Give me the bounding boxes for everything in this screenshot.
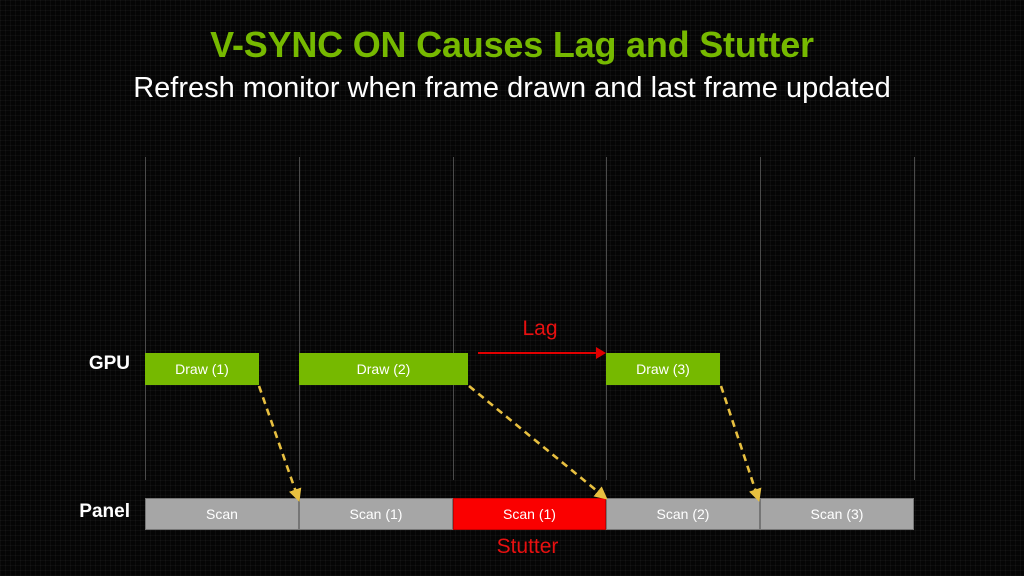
panel-bar-scan-0: Scan: [145, 498, 299, 530]
delivery-arrow-1: [259, 386, 297, 495]
lag-label: Lag: [470, 317, 610, 341]
gridline-64: [760, 157, 761, 480]
panel-bar-scan-2: Scan (2): [606, 498, 760, 530]
row-label-panel: Panel: [10, 501, 130, 523]
slide-header: V-SYNC ON Causes Lag and Stutter Refresh…: [0, 0, 1024, 125]
gpu-bar-label: Draw (1): [175, 361, 229, 377]
panel-bar-label: Scan (1): [350, 506, 403, 522]
slide-root: V-SYNC ON Causes Lag and Stutter Refresh…: [0, 0, 1024, 576]
gpu-bar-draw-3: Draw (3): [606, 353, 720, 385]
stutter-label: Stutter: [455, 535, 600, 559]
gpu-bar-label: Draw (2): [357, 361, 411, 377]
timeline-chart: GPU Panel Draw (1) Draw (2) Draw (3) Sca…: [0, 125, 1024, 576]
gpu-bar-label: Draw (3): [636, 361, 690, 377]
gpu-bar-draw-2: Draw (2): [299, 353, 468, 385]
lag-arrow-line: [478, 352, 600, 354]
gridline-32: [453, 157, 454, 480]
panel-bar-label: Scan (3): [811, 506, 864, 522]
gridline-0: [145, 157, 146, 480]
delivery-arrow-2: [469, 386, 602, 495]
delivery-arrow-3: [721, 386, 757, 495]
row-label-gpu: GPU: [10, 353, 130, 375]
page-title: V-SYNC ON Causes Lag and Stutter: [0, 24, 1024, 66]
gridline-80: [914, 157, 915, 480]
panel-bar-scan-1-repeat: Scan (1): [453, 498, 606, 530]
gridline-16: [299, 157, 300, 480]
panel-bar-label: Scan (1): [503, 506, 556, 522]
panel-bar-scan-1: Scan (1): [299, 498, 453, 530]
panel-bar-label: Scan (2): [657, 506, 710, 522]
panel-bar-label: Scan: [206, 506, 238, 522]
gpu-bar-draw-1: Draw (1): [145, 353, 259, 385]
lag-arrowhead-icon: [596, 347, 606, 359]
page-subtitle: Refresh monitor when frame drawn and las…: [0, 72, 1024, 105]
panel-bar-scan-3: Scan (3): [760, 498, 914, 530]
